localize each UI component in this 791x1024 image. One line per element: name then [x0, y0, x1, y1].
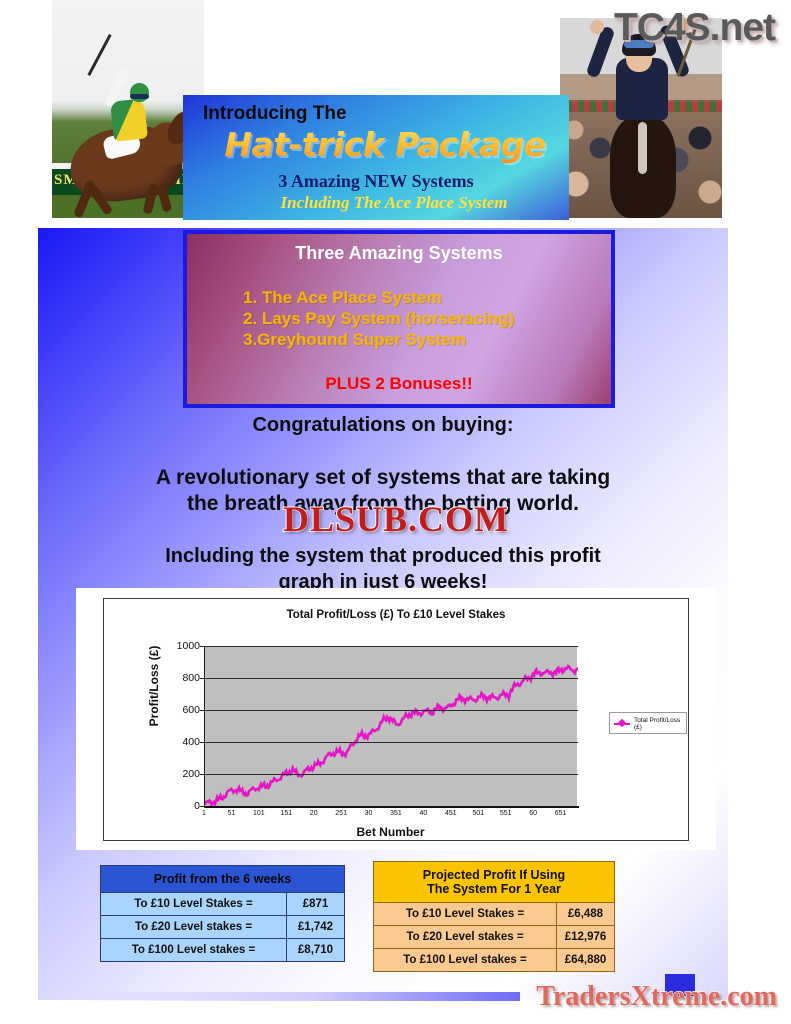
- chart-y-tick-mark: [200, 646, 204, 647]
- bonus-text: PLUS 2 Bonuses!!: [187, 374, 611, 394]
- chart-y-axis-ticks: 02004006008001000: [162, 646, 200, 806]
- chart-y-axis-label: Profit/Loss (£): [147, 616, 161, 756]
- table-row: To £20 Level stakes = £1,742: [101, 916, 345, 939]
- chart-x-tick-label: 20: [310, 810, 318, 817]
- table-right-header-line-2: The System For 1 Year: [427, 882, 561, 896]
- chart-gridline: [205, 646, 578, 647]
- chart-y-tick-label: 600: [166, 704, 200, 716]
- banner-subtitle-2: Including The Ace Place System: [201, 193, 587, 213]
- chart-x-axis: [204, 806, 579, 808]
- row-label: To £100 Level stakes =: [101, 939, 287, 962]
- legend-marker-icon: [618, 719, 626, 727]
- table-left-header: Profit from the 6 weeks: [101, 866, 345, 893]
- chart-x-axis-label: Bet Number: [204, 825, 577, 839]
- chart-gridline: [205, 678, 578, 679]
- chart-legend: Total Profit/Loss (£): [609, 712, 687, 734]
- intro-paragraph-line-1: A revolutionary set of systems that are …: [38, 465, 728, 491]
- chart-x-tick-label: 501: [472, 810, 484, 817]
- systems-list-item-3: 3.Greyhound Super System: [243, 329, 514, 350]
- table-row: To £20 Level stakes = £12,976: [374, 926, 615, 949]
- chart-y-tick-mark: [200, 678, 204, 679]
- chart-gridline: [205, 742, 578, 743]
- row-value: £12,976: [557, 926, 615, 949]
- table-header-row: Projected Profit If Using The System For…: [374, 862, 615, 903]
- chart-x-tick-label: 40: [420, 810, 428, 817]
- chart-x-tick-label: 251: [335, 810, 347, 817]
- table-row: To £100 Level stakes = £64,880: [374, 949, 615, 972]
- graph-intro-line-1: Including the system that produced this …: [38, 543, 728, 569]
- chart-x-tick-label: 151: [280, 810, 292, 817]
- dlsub-watermark: DLSUB.COM: [256, 498, 536, 540]
- row-value: £6,488: [557, 903, 615, 926]
- table-row: To £10 Level Stakes = £871: [101, 893, 345, 916]
- chart-y-tick-label: 800: [166, 672, 200, 684]
- chart-gridline: [205, 710, 578, 711]
- banner-title: Hat-trick Package: [215, 125, 555, 164]
- footer-logo: TradersXtreme.com: [536, 981, 777, 1013]
- profit-chart: Total Profit/Loss (£) To £10 Level Stake…: [103, 598, 689, 841]
- row-value: £64,880: [557, 949, 615, 972]
- systems-list: 1. The Ace Place System 2. Lays Pay Syst…: [243, 287, 514, 350]
- chart-y-tick-label: 0: [166, 800, 200, 812]
- systems-box-title: Three Amazing Systems: [187, 243, 611, 264]
- row-value: £8,710: [287, 939, 345, 962]
- chart-gridline: [205, 774, 578, 775]
- banner-intro: Introducing The: [203, 103, 347, 125]
- row-label: To £10 Level Stakes =: [101, 893, 287, 916]
- table-header-row: Profit from the 6 weeks: [101, 866, 345, 893]
- congratulations-line: Congratulations on buying:: [38, 414, 728, 437]
- chart-y-tick-mark: [200, 742, 204, 743]
- jockey-photo-left: SMITHSJOHN: [52, 0, 204, 218]
- row-label: To £100 Level stakes =: [374, 949, 557, 972]
- banner-subtitle: 3 Amazing NEW Systems: [183, 171, 569, 192]
- table-right-header-line-1: Projected Profit If Using: [423, 868, 565, 882]
- systems-list-item-1: 1. The Ace Place System: [243, 287, 514, 308]
- promo-banner: Introducing The Hat-trick Package 3 Amaz…: [183, 95, 569, 220]
- site-logo: TC4S.net: [614, 6, 775, 50]
- row-label: To £20 Level stakes =: [101, 916, 287, 939]
- row-label: To £10 Level Stakes =: [374, 903, 557, 926]
- row-value: £1,742: [287, 916, 345, 939]
- chart-x-tick-label: 351: [390, 810, 402, 817]
- chart-x-tick-label: 51: [228, 810, 236, 817]
- chart-y-tick-mark: [200, 774, 204, 775]
- chart-x-tick-label: 1: [202, 810, 206, 817]
- table-row: To £100 Level stakes = £8,710: [101, 939, 345, 962]
- chart-y-tick-label: 400: [166, 736, 200, 748]
- systems-callout-box: Three Amazing Systems 1. The Ace Place S…: [183, 230, 615, 408]
- systems-list-item-2: 2. Lays Pay System (horseracing): [243, 308, 514, 329]
- chart-y-tick-mark: [200, 710, 204, 711]
- chart-plot-area: [204, 646, 577, 806]
- profit-table-actual: Profit from the 6 weeks To £10 Level Sta…: [100, 865, 345, 962]
- chart-y-tick-mark: [200, 806, 204, 807]
- table-right-header: Projected Profit If Using The System For…: [374, 862, 615, 903]
- table-row: To £10 Level Stakes = £6,488: [374, 903, 615, 926]
- chart-x-tick-label: 101: [253, 810, 265, 817]
- chart-y-tick-label: 200: [166, 768, 200, 780]
- chart-title: Total Profit/Loss (£) To £10 Level Stake…: [104, 609, 688, 621]
- profit-chart-panel: Total Profit/Loss (£) To £10 Level Stake…: [76, 588, 716, 850]
- profit-table-projected: Projected Profit If Using The System For…: [373, 861, 615, 972]
- row-label: To £20 Level stakes =: [374, 926, 557, 949]
- page-header: SMITHSJOHN TC4S.net Introducing The Hat-…: [0, 0, 791, 228]
- chart-x-tick-label: 651: [555, 810, 567, 817]
- row-value: £871: [287, 893, 345, 916]
- page-root: SMITHSJOHN TC4S.net Introducing The Hat-…: [0, 0, 791, 1024]
- chart-x-tick-label: 451: [445, 810, 457, 817]
- chart-x-tick-label: 60: [529, 810, 537, 817]
- chart-y-tick-label: 1000: [166, 640, 200, 652]
- footer-gradient-bar: [70, 992, 520, 1001]
- legend-label: Total Profit/Loss (£): [634, 717, 686, 731]
- chart-x-tick-label: 30: [365, 810, 373, 817]
- chart-x-tick-label: 551: [500, 810, 512, 817]
- chart-x-axis-ticks: 15110115120251303514045150155160651: [204, 810, 579, 824]
- chart-series-line: [205, 646, 578, 806]
